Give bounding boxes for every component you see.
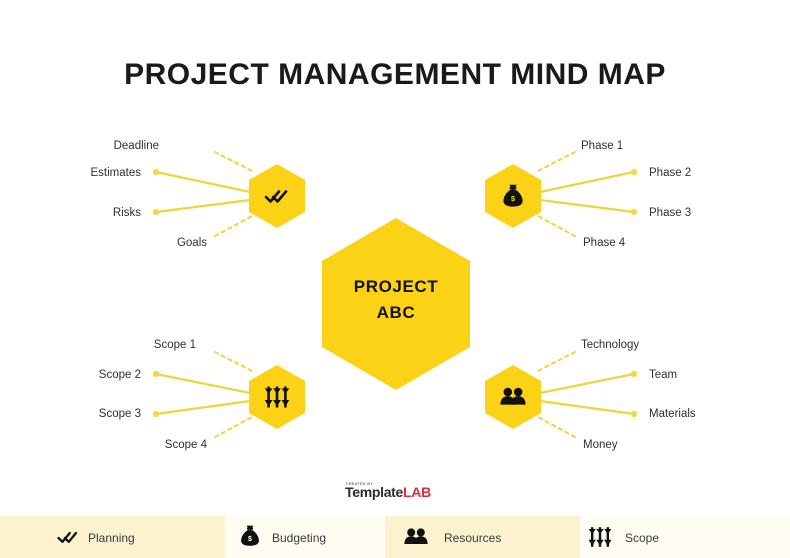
label-phase-4: Phase 4	[583, 237, 626, 249]
label-phase-2: Phase 2	[649, 167, 691, 179]
brand-wordmark: TemplateLAB	[345, 484, 431, 500]
legend-bg-scope	[580, 516, 790, 558]
connector-dot-materials	[631, 411, 637, 417]
connector-dot-scope-2	[153, 371, 159, 377]
brand-name-dark: Template	[345, 484, 404, 500]
label-technology: Technology	[581, 339, 639, 351]
sliders-icon	[589, 527, 612, 547]
legend-label-planning: Planning	[88, 531, 135, 545]
label-scope-3: Scope 3	[99, 408, 141, 420]
label-phase-1: Phase 1	[581, 140, 623, 152]
label-phase-3: Phase 3	[649, 207, 691, 219]
label-scope-2: Scope 2	[99, 369, 141, 381]
connector-dot-estimates	[153, 169, 159, 175]
center-title-line1: PROJECT	[354, 277, 439, 296]
label-scope-4: Scope 4	[165, 439, 208, 451]
center-title-line2: ABC	[377, 303, 416, 322]
label-money: Money	[583, 439, 618, 451]
brand-name-red: LAB	[403, 484, 431, 500]
legend-label-scope: Scope	[625, 531, 659, 545]
label-team: Team	[649, 369, 677, 381]
label-estimates: Estimates	[91, 167, 142, 179]
mind-map-canvas: PROJECT MANAGEMENT MIND MAP	[0, 0, 790, 558]
legend-label-resources: Resources	[444, 531, 501, 545]
connector-dot-scope-3	[153, 411, 159, 417]
label-scope-1: Scope 1	[154, 339, 196, 351]
connector-dot-phase-3	[631, 209, 637, 215]
connector-dot-phase-2	[631, 169, 637, 175]
page-title: PROJECT MANAGEMENT MIND MAP	[124, 58, 666, 91]
legend-label-budgeting: Budgeting	[272, 531, 326, 545]
legend-item-resources[interactable]: Resources	[404, 528, 501, 545]
connector-dot-team	[631, 371, 637, 377]
label-risks: Risks	[113, 207, 141, 219]
connector-dot-risks	[153, 209, 159, 215]
sliders-icon	[265, 387, 290, 408]
label-deadline: Deadline	[114, 140, 159, 152]
label-materials: Materials	[649, 408, 696, 420]
brand-templatelab[interactable]: CREATED BY TemplateLAB	[345, 482, 431, 500]
svg-text:$: $	[248, 536, 252, 543]
legend-bar: Planning $ Budgeting Resources	[0, 516, 790, 558]
label-goals: Goals	[177, 237, 207, 249]
